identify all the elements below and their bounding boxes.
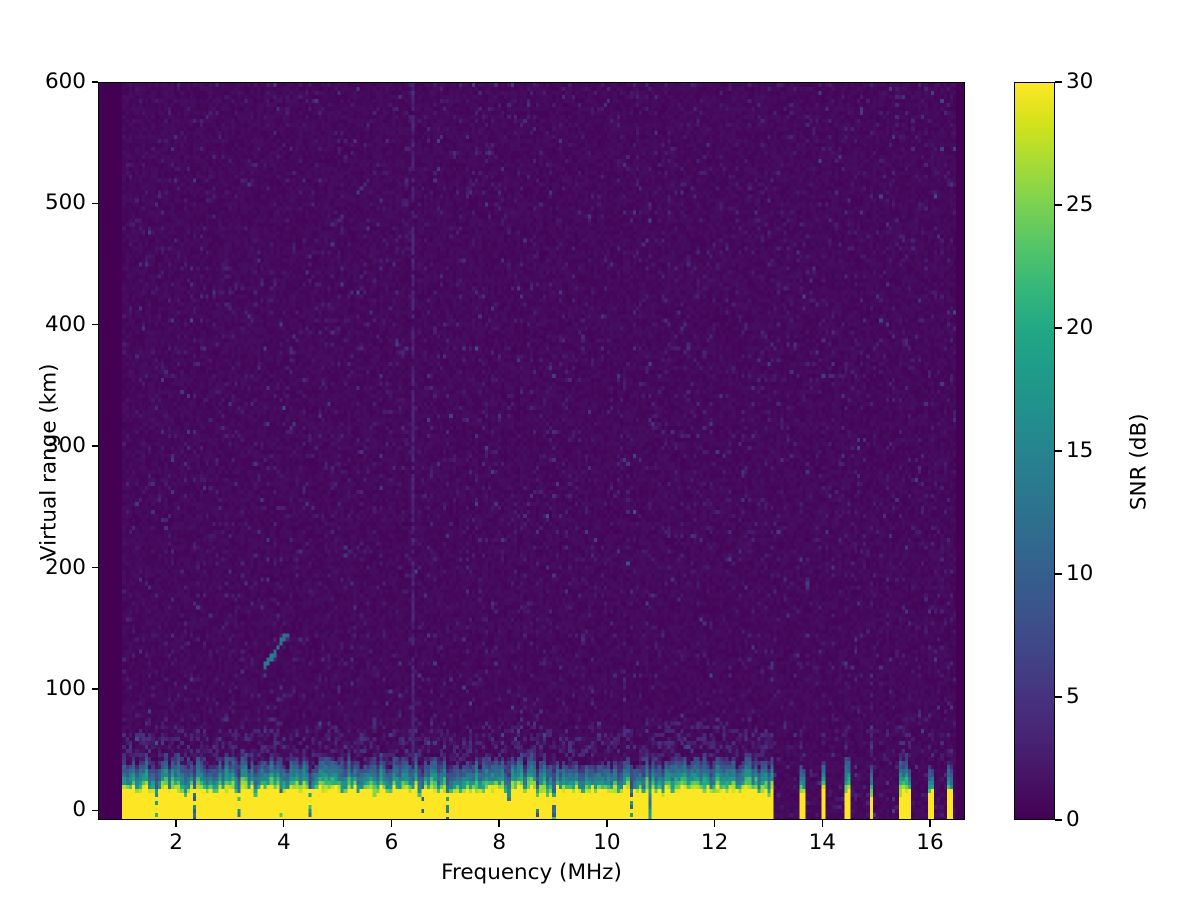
x-tick-label: 6 <box>361 832 421 854</box>
colorbar-tick-mark <box>1055 204 1062 205</box>
colorbar-tick-label: 0 <box>1066 809 1146 831</box>
x-axis-label: Frequency (MHz) <box>98 862 965 884</box>
colorbar-tick-mark <box>1055 327 1062 328</box>
x-tick-label: 12 <box>685 832 745 854</box>
x-tick-mark <box>498 820 499 827</box>
x-tick-mark <box>929 820 930 827</box>
colorbar-tick-label: 30 <box>1066 71 1146 93</box>
x-tick-label: 10 <box>577 832 637 854</box>
y-tick-mark <box>92 203 99 204</box>
y-tick-mark <box>92 445 99 446</box>
colorbar-tick-mark <box>1055 819 1062 820</box>
colorbar-tick-label: 5 <box>1066 686 1146 708</box>
x-tick-label: 14 <box>792 832 852 854</box>
colorbar-tick-mark <box>1055 696 1062 697</box>
plot-area <box>98 82 965 820</box>
y-tick-label: 500 <box>0 192 86 214</box>
x-tick-label: 8 <box>469 832 529 854</box>
colorbar-tick-mark <box>1055 81 1062 82</box>
x-tick-label: 4 <box>254 832 314 854</box>
colorbar-tick-label: 25 <box>1066 194 1146 216</box>
x-tick-mark <box>283 820 284 827</box>
y-tick-mark <box>92 324 99 325</box>
x-tick-mark <box>391 820 392 827</box>
y-tick-mark <box>92 810 99 811</box>
x-tick-mark <box>822 820 823 827</box>
x-tick-mark <box>606 820 607 827</box>
x-tick-label: 16 <box>900 832 960 854</box>
x-tick-mark <box>175 820 176 827</box>
colorbar-label: SNR (dB) <box>1128 262 1150 662</box>
y-tick-label: 0 <box>0 799 86 821</box>
y-tick-label: 600 <box>0 71 86 93</box>
y-tick-mark <box>92 688 99 689</box>
y-tick-label: 100 <box>0 678 86 700</box>
colorbar-gradient <box>1015 83 1054 819</box>
y-tick-mark <box>92 567 99 568</box>
x-tick-mark <box>714 820 715 827</box>
colorbar <box>1014 82 1055 820</box>
y-axis-label: Virtual range (km) <box>38 262 60 662</box>
colorbar-tick-mark <box>1055 450 1062 451</box>
y-tick-mark <box>92 81 99 82</box>
ionogram-heatmap <box>99 83 964 819</box>
ionogram-figure: IRF Kiruna Ionosonde KI167 2025-09-29 00… <box>0 0 1200 900</box>
x-tick-label: 2 <box>146 832 206 854</box>
colorbar-tick-mark <box>1055 573 1062 574</box>
